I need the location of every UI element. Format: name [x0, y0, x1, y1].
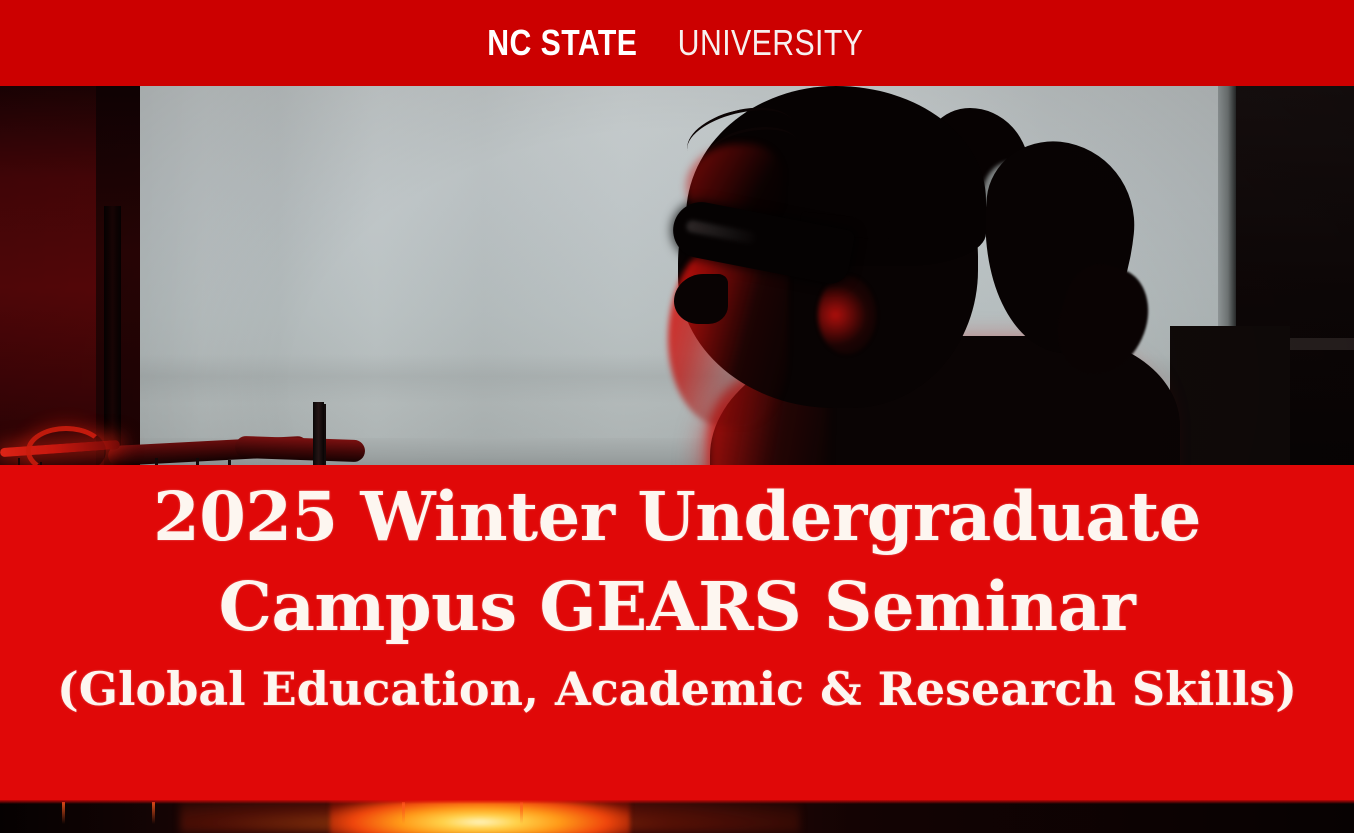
ear-rim-light [818, 276, 876, 354]
light-streak [152, 802, 155, 824]
seminar-title-line-2: Campus GEARS Seminar [219, 573, 1136, 641]
seminar-subtitle: (Global Education, Academic & Research S… [57, 666, 1297, 713]
brand-name-light: UNIVERSITY [677, 25, 863, 61]
brand-name-bold: NC STATE [487, 25, 637, 61]
seminar-poster: NC STATE UNIVERSITY [0, 0, 1354, 833]
nc-state-brand-bar: NC STATE UNIVERSITY [0, 0, 1354, 86]
bottom-photo-strip [0, 800, 1354, 833]
light-streak [402, 802, 405, 824]
light-streak [62, 802, 65, 824]
student-silhouette [590, 86, 1230, 506]
furnace-glow [330, 800, 630, 833]
light-streak [520, 802, 523, 824]
blow-pipe-segment [235, 436, 366, 463]
nc-state-logo[interactable]: NC STATE UNIVERSITY [0, 0, 1354, 86]
title-panel: 2025 Winter Undergraduate Campus GEARS S… [0, 465, 1354, 800]
seminar-title-line-1: 2025 Winter Undergraduate [153, 483, 1201, 551]
nose [674, 274, 728, 324]
strip-top-fringe [0, 800, 1354, 804]
